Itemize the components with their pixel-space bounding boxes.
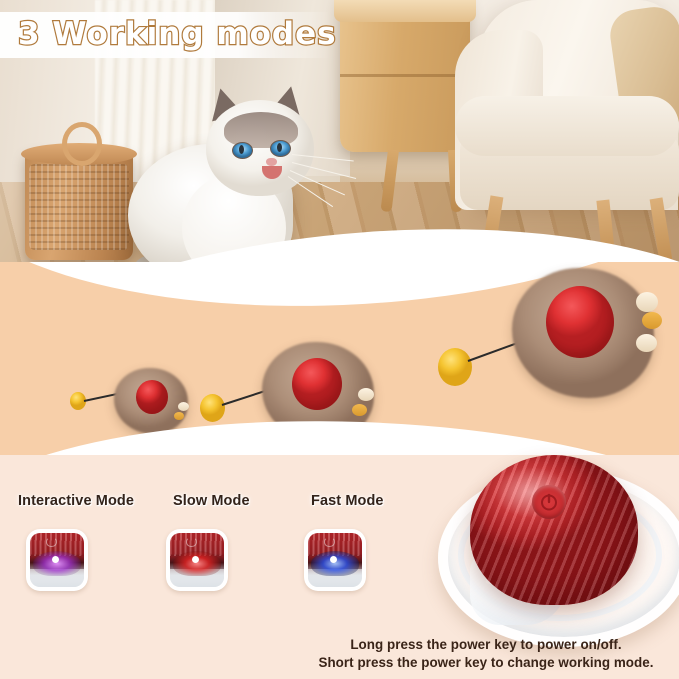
paw-claw: [636, 292, 658, 312]
paw-claw-accent: [642, 312, 662, 329]
paw-claw: [358, 388, 374, 401]
paw-claw: [636, 334, 657, 352]
smile-emboss: [324, 537, 335, 547]
pom-pom: [200, 394, 225, 422]
led-dome-red: [173, 551, 221, 576]
led-point: [330, 556, 337, 563]
basket-knob: [62, 122, 102, 166]
nightstand-top: [334, 0, 476, 22]
thumb-image: [30, 533, 84, 587]
product-infographic: 3 Working modes: [0, 0, 679, 679]
led-dome-purple: [33, 551, 81, 576]
motion-band: [0, 262, 679, 462]
red-ball: [136, 380, 168, 414]
mode-thumbnail-slow[interactable]: [166, 529, 228, 591]
smile-emboss: [186, 537, 197, 547]
page-title: 3 Working modes: [18, 16, 337, 52]
power-button[interactable]: [532, 485, 566, 519]
paw-claw-accent: [174, 412, 184, 420]
paw-claw-accent: [352, 404, 367, 416]
mode-label-slow: Slow Mode: [173, 493, 250, 509]
mode-fast[interactable]: Fast Mode: [278, 455, 438, 615]
power-icon: [539, 492, 559, 512]
mode-label-fast: Fast Mode: [311, 493, 384, 509]
smile-emboss: [46, 537, 57, 547]
mode-slow[interactable]: Slow Mode: [140, 455, 300, 615]
mode-thumbnail-fast[interactable]: [304, 529, 366, 591]
red-ball-body: [470, 455, 638, 605]
cat-pupil-left: [239, 145, 244, 154]
led-point: [192, 556, 199, 563]
led-dome-blue: [311, 551, 359, 576]
mode-thumbnail-interactive[interactable]: [26, 529, 88, 591]
led-point: [52, 556, 59, 563]
mode-label-interactive: Interactive Mode: [18, 493, 134, 509]
red-ball: [292, 358, 342, 410]
nightstand-drawer-line: [340, 74, 470, 77]
wicker-basket: [25, 150, 133, 260]
thumb-image: [170, 533, 224, 587]
paw-claw: [178, 402, 189, 411]
instruction-line-2: Short press the power key to change work…: [300, 654, 672, 672]
armchair-seat: [455, 96, 679, 156]
pom-pom: [438, 348, 472, 386]
cat-pupil-right: [277, 143, 282, 152]
red-ball: [546, 286, 614, 358]
product-image: [432, 455, 676, 640]
instruction-line-1: Long press the power key to power on/off…: [300, 636, 672, 654]
basket-weave: [29, 164, 129, 250]
mode-interactive[interactable]: Interactive Mode: [0, 455, 160, 615]
instructions: Long press the power key to power on/off…: [300, 636, 672, 672]
cat-nose: [266, 158, 277, 166]
thumb-image: [308, 533, 362, 587]
cat-whisker: [288, 176, 333, 207]
